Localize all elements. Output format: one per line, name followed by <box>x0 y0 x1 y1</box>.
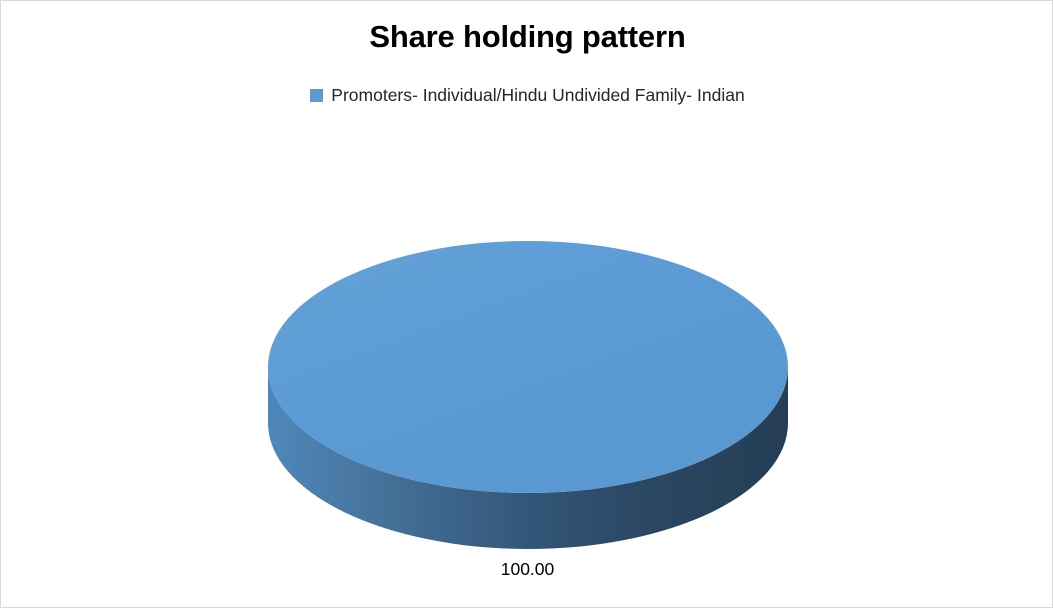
pie-data-label: 100.00 <box>1 558 1053 580</box>
pie-chart-figure: Share holding pattern Promoters- Individ… <box>0 0 1053 608</box>
chart-legend: Promoters- Individual/Hindu Undivided Fa… <box>1 85 1053 105</box>
legend-item-label: Promoters- Individual/Hindu Undivided Fa… <box>331 85 744 105</box>
chart-title: Share holding pattern <box>1 17 1053 57</box>
pie-graphic[interactable] <box>268 241 788 549</box>
legend-item-promoters[interactable]: Promoters- Individual/Hindu Undivided Fa… <box>310 85 744 105</box>
pie-slice-promoters[interactable] <box>268 241 788 493</box>
pie-surface-sheen <box>268 241 788 493</box>
legend-color-swatch-icon <box>310 89 323 102</box>
